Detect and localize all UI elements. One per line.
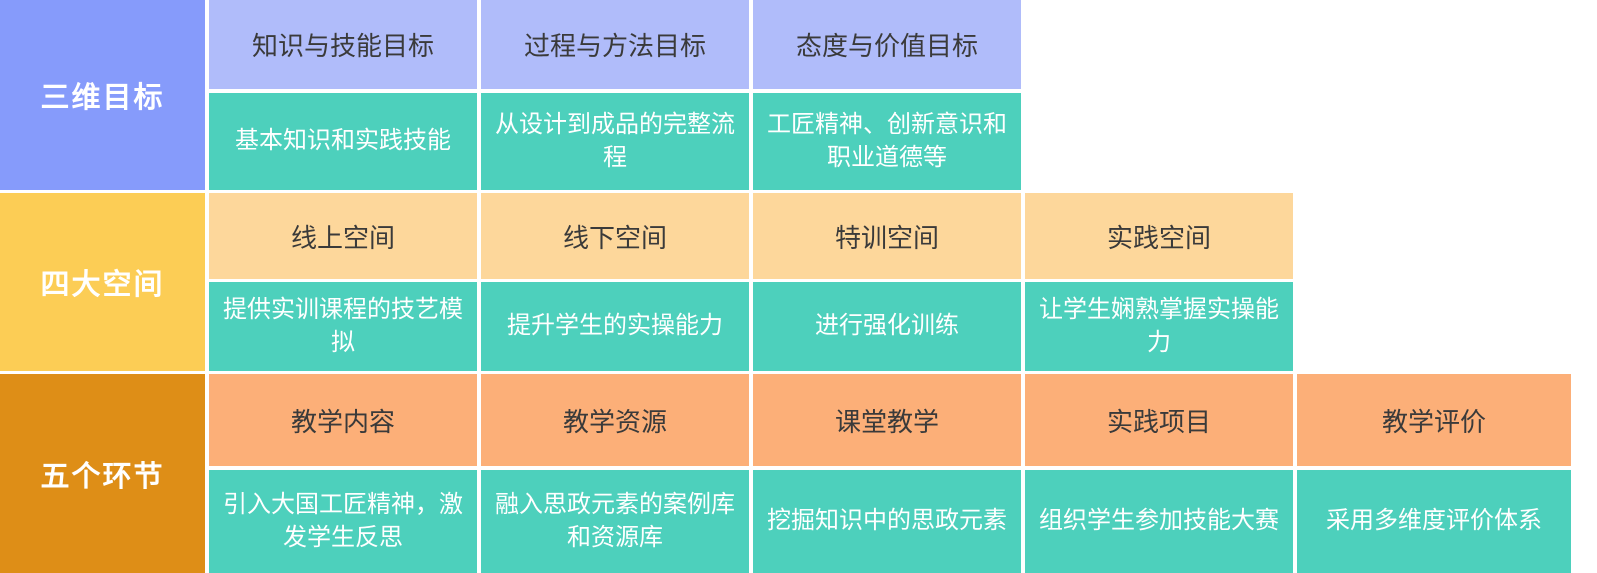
cell-body-attitude-value-goal: 工匠精神、创新意识和职业道德等	[753, 93, 1021, 190]
cell-head-teaching-content: 教学内容	[209, 374, 477, 466]
cell-head-online-space: 线上空间	[209, 193, 477, 279]
cell-body-teaching-content: 引入大国工匠精神，激发学生反思	[209, 470, 477, 573]
cell-body-practice-project: 组织学生参加技能大赛	[1025, 470, 1293, 573]
matrix-diagram: 三维目标 知识与技能目标 基本知识和实践技能 过程与方法目标 从设计到成品的完整…	[0, 0, 1597, 573]
cell-head-attitude-value-goal: 态度与价值目标	[753, 0, 1021, 89]
matrix-row-four-spaces: 四大空间 线上空间 提供实训课程的技艺模拟 线下空间 提升学生的实操能力 特训空…	[0, 193, 1597, 371]
cell-attitude-value-goal[interactable]: 态度与价值目标 工匠精神、创新意识和职业道德等	[753, 0, 1021, 190]
cell-knowledge-skill-goal[interactable]: 知识与技能目标 基本知识和实践技能	[209, 0, 477, 190]
cell-practice-space[interactable]: 实践空间 让学生娴熟掌握实操能力	[1025, 193, 1293, 371]
cell-classroom-teaching[interactable]: 课堂教学 挖掘知识中的思政元素	[753, 374, 1021, 573]
cell-head-special-training-space: 特训空间	[753, 193, 1021, 279]
row-label-five-steps: 五个环节	[0, 374, 205, 573]
row-1-cells: 知识与技能目标 基本知识和实践技能 过程与方法目标 从设计到成品的完整流程 态度…	[205, 0, 1597, 190]
cell-teaching-resources[interactable]: 教学资源 融入思政元素的案例库和资源库	[481, 374, 749, 573]
cell-head-practice-space: 实践空间	[1025, 193, 1293, 279]
cell-body-special-training-space: 进行强化训练	[753, 282, 1021, 371]
cell-body-teaching-evaluation: 采用多维度评价体系	[1297, 470, 1571, 573]
cell-practice-project[interactable]: 实践项目 组织学生参加技能大赛	[1025, 374, 1293, 573]
cell-head-knowledge-skill-goal: 知识与技能目标	[209, 0, 477, 89]
row-2-cells: 线上空间 提供实训课程的技艺模拟 线下空间 提升学生的实操能力 特训空间 进行强…	[205, 193, 1597, 371]
cell-online-space[interactable]: 线上空间 提供实训课程的技艺模拟	[209, 193, 477, 371]
cell-head-process-method-goal: 过程与方法目标	[481, 0, 749, 89]
cell-head-teaching-evaluation: 教学评价	[1297, 374, 1571, 466]
cell-body-process-method-goal: 从设计到成品的完整流程	[481, 93, 749, 190]
cell-body-classroom-teaching: 挖掘知识中的思政元素	[753, 470, 1021, 573]
cell-body-offline-space: 提升学生的实操能力	[481, 282, 749, 371]
row-label-four-spaces: 四大空间	[0, 193, 205, 371]
cell-head-teaching-resources: 教学资源	[481, 374, 749, 466]
cell-teaching-content[interactable]: 教学内容 引入大国工匠精神，激发学生反思	[209, 374, 477, 573]
cell-body-teaching-resources: 融入思政元素的案例库和资源库	[481, 470, 749, 573]
cell-head-practice-project: 实践项目	[1025, 374, 1293, 466]
cell-special-training-space[interactable]: 特训空间 进行强化训练	[753, 193, 1021, 371]
cell-process-method-goal[interactable]: 过程与方法目标 从设计到成品的完整流程	[481, 0, 749, 190]
cell-body-practice-space: 让学生娴熟掌握实操能力	[1025, 282, 1293, 371]
matrix-row-three-dimensional-goals: 三维目标 知识与技能目标 基本知识和实践技能 过程与方法目标 从设计到成品的完整…	[0, 0, 1597, 190]
cell-body-online-space: 提供实训课程的技艺模拟	[209, 282, 477, 371]
matrix-row-five-steps: 五个环节 教学内容 引入大国工匠精神，激发学生反思 教学资源 融入思政元素的案例…	[0, 374, 1597, 573]
row-label-three-dimensional-goals: 三维目标	[0, 0, 205, 190]
cell-teaching-evaluation[interactable]: 教学评价 采用多维度评价体系	[1297, 374, 1571, 573]
cell-body-knowledge-skill-goal: 基本知识和实践技能	[209, 93, 477, 190]
cell-head-classroom-teaching: 课堂教学	[753, 374, 1021, 466]
cell-offline-space[interactable]: 线下空间 提升学生的实操能力	[481, 193, 749, 371]
cell-head-offline-space: 线下空间	[481, 193, 749, 279]
row-3-cells: 教学内容 引入大国工匠精神，激发学生反思 教学资源 融入思政元素的案例库和资源库…	[205, 374, 1597, 573]
